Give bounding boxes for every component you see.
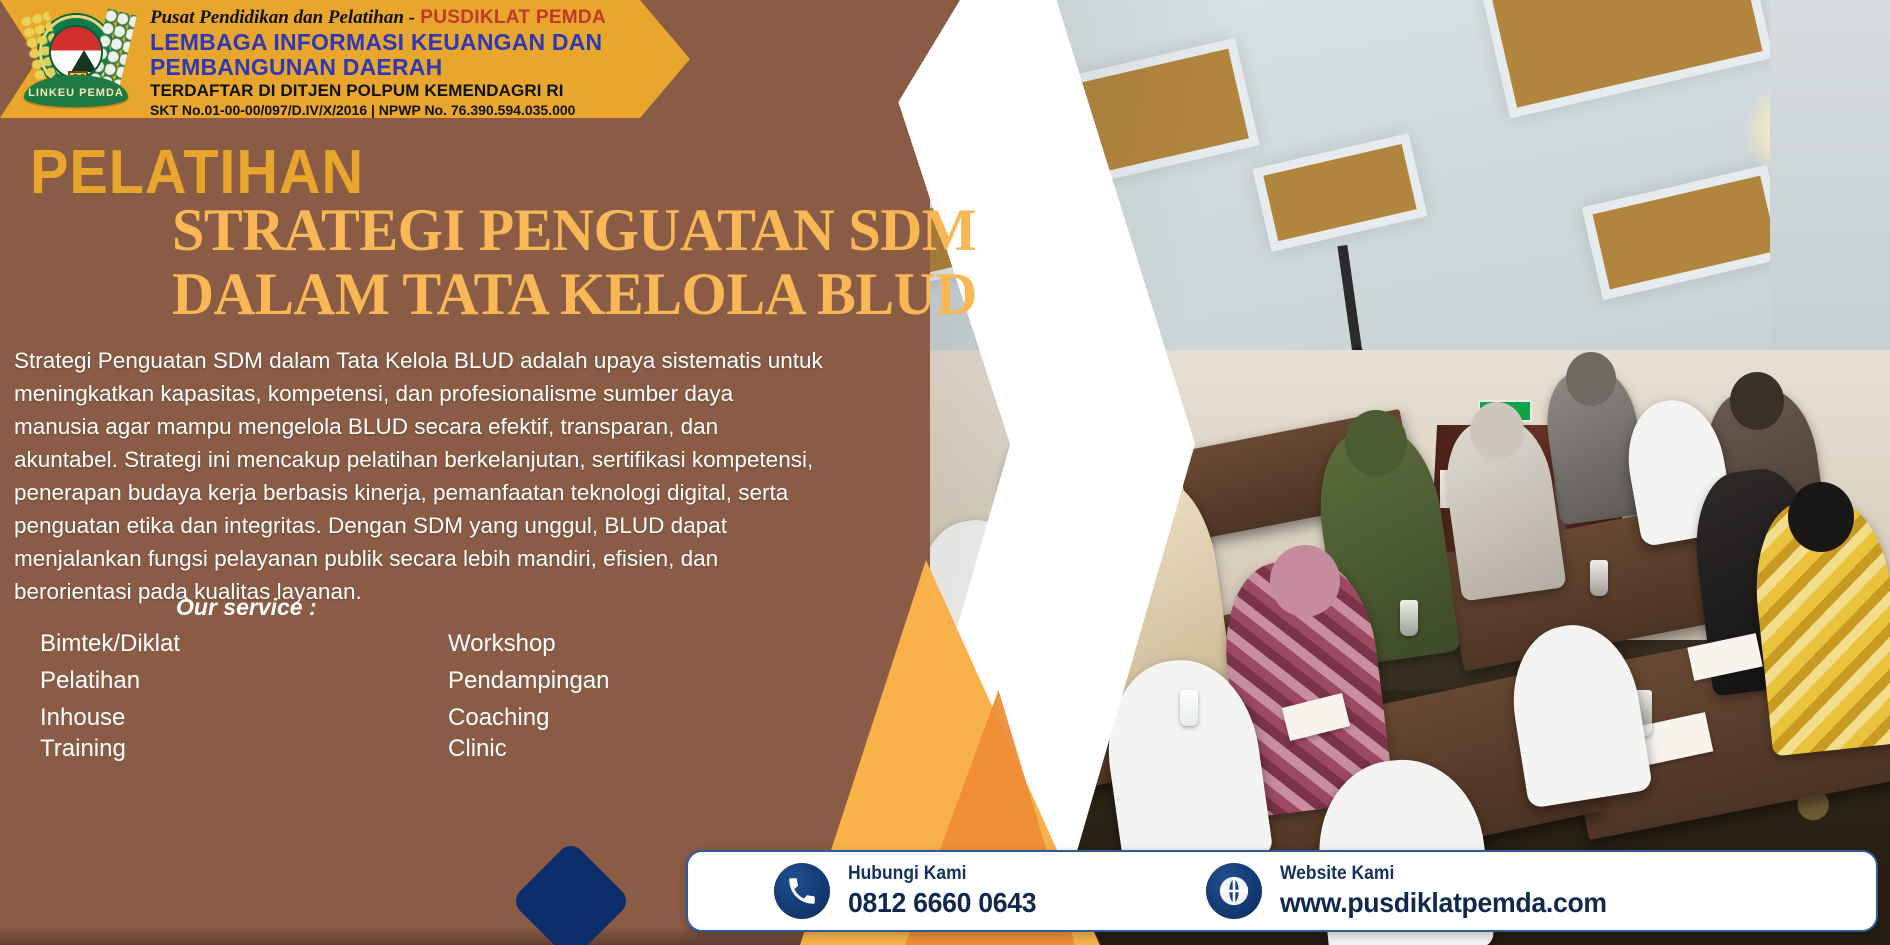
hero-title-line2: DALAM TATA KELOLA BLUD — [172, 264, 938, 324]
hero-title: STRATEGI PENGUATAN SDM DALAM TATA KELOLA… — [172, 200, 962, 324]
list-item: Pelatihan — [40, 662, 180, 699]
header-license: SKT No.01-00-00/097/D.IV/X/2016 | NPWP N… — [150, 101, 670, 119]
list-item: Bimtek/Diklat — [40, 625, 180, 662]
services-heading: Our service : — [176, 594, 317, 621]
globe-icon — [1206, 863, 1262, 919]
header-org-line1: LEMBAGA INFORMASI KEUANGAN DAN — [150, 30, 670, 55]
phone-label: Hubungi Kami — [848, 864, 1030, 884]
list-item: Workshop — [448, 625, 609, 662]
pusdiklat-pemda-logo-icon: LINKEU PEMDA — [22, 5, 130, 113]
header-org-line2: PEMBANGUNAN DAERAH — [150, 55, 670, 80]
services-list: Bimtek/Diklat Pelatihan Inhouse Training… — [40, 625, 560, 767]
phone-icon — [774, 863, 830, 919]
contact-website-group[interactable]: Website Kami www.pusdiklatpemda.com — [1206, 863, 1624, 919]
header-registration: TERDAFTAR DI DITJEN POLPUM KEMENDAGRI RI — [150, 80, 670, 101]
phone-number[interactable]: 0812 6660 0643 — [848, 888, 1036, 917]
contact-phone-group[interactable]: Hubungi Kami 0812 6660 0643 — [774, 863, 1046, 919]
list-item: Pendampingan — [448, 662, 609, 699]
contact-bar: Hubungi Kami 0812 6660 0643 Website Kami… — [686, 850, 1878, 932]
website-label: Website Kami — [1280, 864, 1596, 884]
services-column-right: Workshop Pendampingan Coaching Clinic — [448, 625, 609, 767]
header-text-block: Pusat Pendidikan dan Pelatihan - PUSDIKL… — [150, 6, 670, 119]
logo-ribbon-text: LINKEU PEMDA — [24, 75, 128, 107]
list-item: Inhouse Training — [40, 699, 180, 767]
header-tagline: Pusat Pendidikan dan Pelatihan - — [150, 7, 415, 28]
list-item: Coaching Clinic — [448, 699, 609, 767]
promotional-banner: LINKEU PEMDA Pusat Pendidikan dan Pelati… — [0, 0, 1890, 945]
logo-ribbon: LINKEU PEMDA — [24, 75, 128, 107]
description-paragraph: Strategi Penguatan SDM dalam Tata Kelola… — [14, 344, 824, 608]
hero-title-line1: STRATEGI PENGUATAN SDM — [172, 200, 938, 260]
hero-kicker: PELATIHAN — [30, 142, 364, 204]
header-brand: PUSDIKLAT PEMDA — [420, 7, 606, 28]
website-url[interactable]: www.pusdiklatpemda.com — [1280, 888, 1607, 917]
services-column-left: Bimtek/Diklat Pelatihan Inhouse Training — [40, 625, 180, 767]
